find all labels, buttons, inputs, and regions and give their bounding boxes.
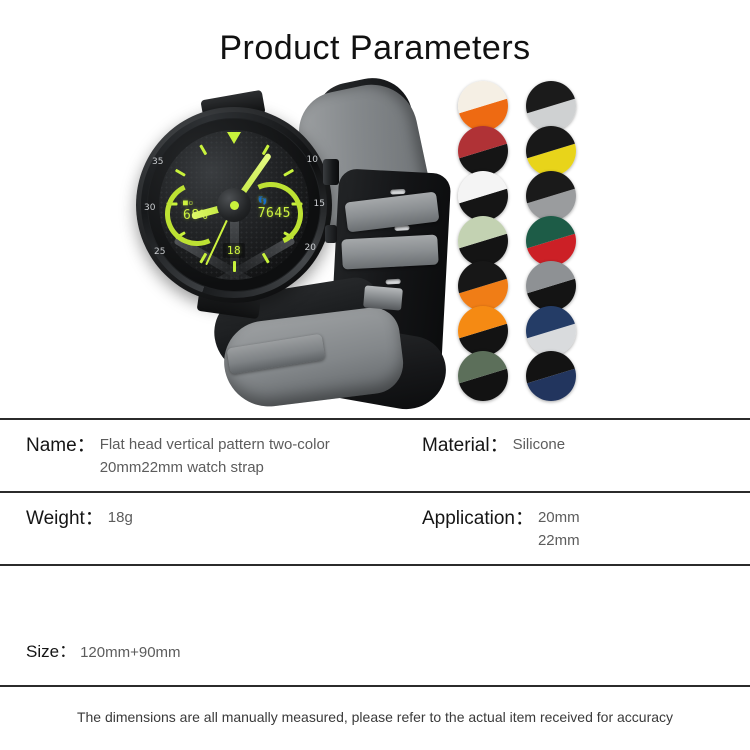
spec-row-weight-application: Weight： 18g Application： 20mm 22mm [0,493,750,564]
date-complication: 18 [223,243,245,258]
color-swatch-army-black[interactable] [458,351,508,401]
color-swatch-navy-silver[interactable] [526,306,576,356]
name-value: Flat head vertical pattern two-color 20m… [96,432,416,479]
dial-center-dot [230,201,239,210]
color-swatch-white-black[interactable] [458,171,508,221]
bezel-number: 30 [144,203,155,213]
strap-buckle [363,285,403,310]
spec-row-name-material: Name： Flat head vertical pattern two-col… [0,420,750,491]
name-label: Name： [26,432,96,460]
color-swatch-orange-black[interactable] [458,306,508,356]
color-swatch-grid [458,81,578,396]
watch-pusher [325,225,337,243]
spec-cell-material: Material： Silicone [416,432,750,460]
color-swatch-black-grey[interactable] [526,171,576,221]
color-swatch-red-black[interactable] [458,126,508,176]
weight-value: 18g [104,505,133,530]
color-swatch-orange-white[interactable] [458,81,508,131]
bezel-number: 25 [154,247,165,257]
color-swatch-black-silver[interactable] [526,81,576,131]
watch-product-image: 10 15 20 25 30 35 [128,79,458,409]
spec-cell-name: Name： Flat head vertical pattern two-col… [0,432,416,479]
spec-cell-weight: Weight： 18g [0,505,416,533]
color-swatch-black-yellow[interactable] [526,126,576,176]
spec-cell-size: Size： 120mm+90mm [0,640,416,665]
size-label: Size： [26,640,76,665]
material-label: Material： [422,432,509,460]
product-hero: 10 15 20 25 30 35 [0,73,750,418]
size-value: 120mm+90mm [76,640,180,665]
battery-icon: ■▫ [183,198,208,207]
spec-row-size: Size： 120mm+90mm [0,622,750,685]
color-swatch-black-orange[interactable] [458,261,508,311]
material-value: Silicone [509,432,566,457]
watch-dial: ■▫ 68% 👣 7645 18 [159,130,309,280]
watch-head: 10 15 20 25 30 35 [136,107,332,303]
spec-cell-application: Application： 20mm 22mm [416,505,750,552]
strap-keeper-loop [341,235,438,270]
footstep-icon: 👣 [258,196,291,205]
watch-crown [323,159,339,185]
color-swatch-green-red[interactable] [526,216,576,266]
color-swatch-grey-black[interactable] [526,261,576,311]
bezel-number: 15 [314,199,325,209]
steps-complication: 👣 7645 [258,196,291,221]
page-title: Product Parameters [0,0,750,65]
color-swatch-sage-black[interactable] [458,216,508,266]
measurement-disclaimer: The dimensions are all manually measured… [0,687,750,725]
steps-value: 7645 [258,206,291,221]
application-label: Application： [422,505,534,533]
color-swatch-black-navy[interactable] [526,351,576,401]
bezel-number: 35 [152,157,163,167]
weight-label: Weight： [26,505,104,533]
bezel-number: 20 [305,243,316,253]
bezel-number: 10 [307,155,318,165]
dial-marker-triangle [227,132,241,144]
application-value: 20mm 22mm [534,505,580,552]
table-spacer [0,566,750,622]
